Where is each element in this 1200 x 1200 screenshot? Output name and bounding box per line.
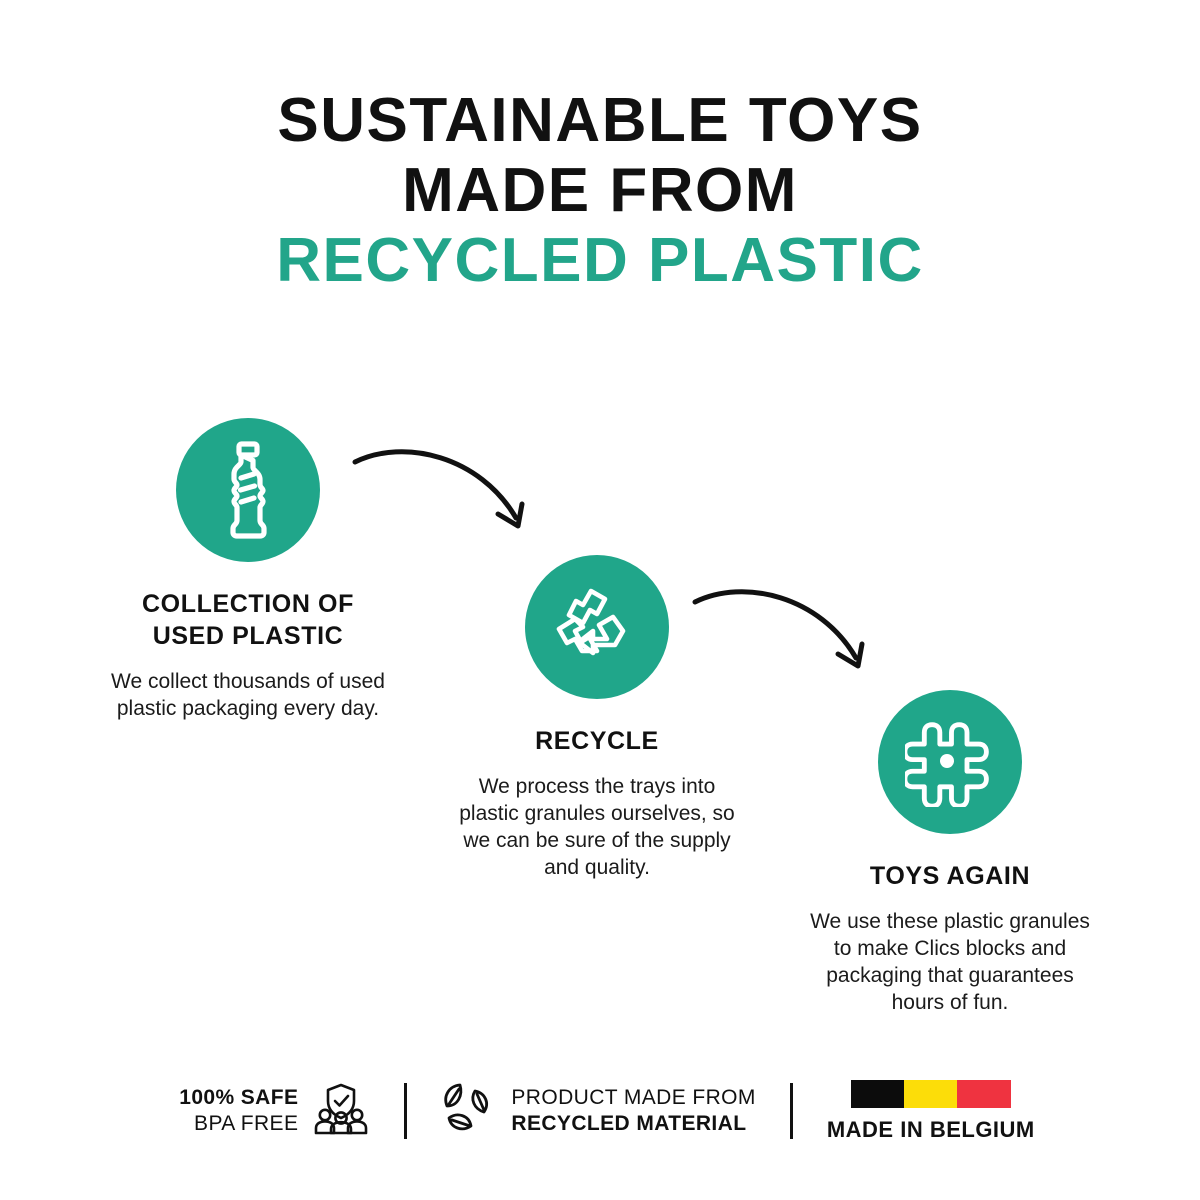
leaves-icon [441, 1082, 497, 1141]
headline-line-2: MADE FROM [0, 156, 1200, 226]
step-3-description: We use these plastic granules to make Cl… [800, 908, 1100, 1016]
page-title: SUSTAINABLE TOYS MADE FROM RECYCLED PLAS… [0, 86, 1200, 296]
footer-divider-2 [790, 1083, 793, 1139]
recycled-material-line-2: RECYCLED MATERIAL [511, 1111, 755, 1137]
step-toys-again: TOYS AGAIN We use these plastic granules… [800, 690, 1100, 1016]
belgium-flag-stripe-yellow [904, 1080, 957, 1108]
safe-bpa-free-line-2: BPA FREE [179, 1111, 298, 1137]
headline-line-1: SUSTAINABLE TOYS [0, 86, 1200, 156]
step-1-description: We collect thousands of used plastic pac… [98, 668, 398, 722]
safe-bpa-free-badge: 100% SAFE BPA FREE [179, 1082, 370, 1141]
footer-divider-1 [404, 1083, 407, 1139]
belgium-flag-stripe-black [851, 1080, 904, 1108]
family-shield-check-icon [312, 1082, 370, 1141]
step-2-description: We process the trays into plastic granul… [447, 773, 747, 881]
made-in-belgium-label: MADE IN BELGIUM [827, 1117, 1035, 1143]
recycle-arrows-icon [553, 585, 641, 669]
step-1-title-line-1: COLLECTION OF [98, 588, 398, 620]
step-2-title: RECYCLE [447, 725, 747, 757]
recycled-material-line-1: PRODUCT MADE FROM [511, 1085, 755, 1111]
step-3-title: TOYS AGAIN [800, 860, 1100, 892]
arrow-step2-to-step3 [692, 580, 892, 695]
step-3-icon-circle [878, 690, 1022, 834]
made-in-belgium-badge: MADE IN BELGIUM [827, 1080, 1035, 1143]
safe-bpa-free-text: 100% SAFE BPA FREE [179, 1085, 298, 1137]
clics-block-icon [905, 717, 995, 807]
headline-line-3-accent: RECYCLED PLASTIC [0, 226, 1200, 296]
step-3-title-line-1: TOYS AGAIN [800, 860, 1100, 892]
footer-badges: 100% SAFE BPA FREE [0, 1068, 1200, 1154]
belgium-flag-icon [851, 1080, 1011, 1108]
safe-bpa-free-line-1: 100% SAFE [179, 1085, 298, 1111]
recycled-material-badge: PRODUCT MADE FROM RECYCLED MATERIAL [441, 1082, 755, 1141]
step-1-title: COLLECTION OF USED PLASTIC [98, 588, 398, 652]
arrow-step1-to-step2 [352, 440, 552, 555]
step-2-title-line-1: RECYCLE [447, 725, 747, 757]
plastic-bottle-icon [210, 440, 286, 540]
step-1-title-line-2: USED PLASTIC [98, 620, 398, 652]
recycled-material-text: PRODUCT MADE FROM RECYCLED MATERIAL [511, 1085, 755, 1137]
step-1-icon-circle [176, 418, 320, 562]
step-2-icon-circle [525, 555, 669, 699]
belgium-flag-stripe-red [957, 1080, 1010, 1108]
